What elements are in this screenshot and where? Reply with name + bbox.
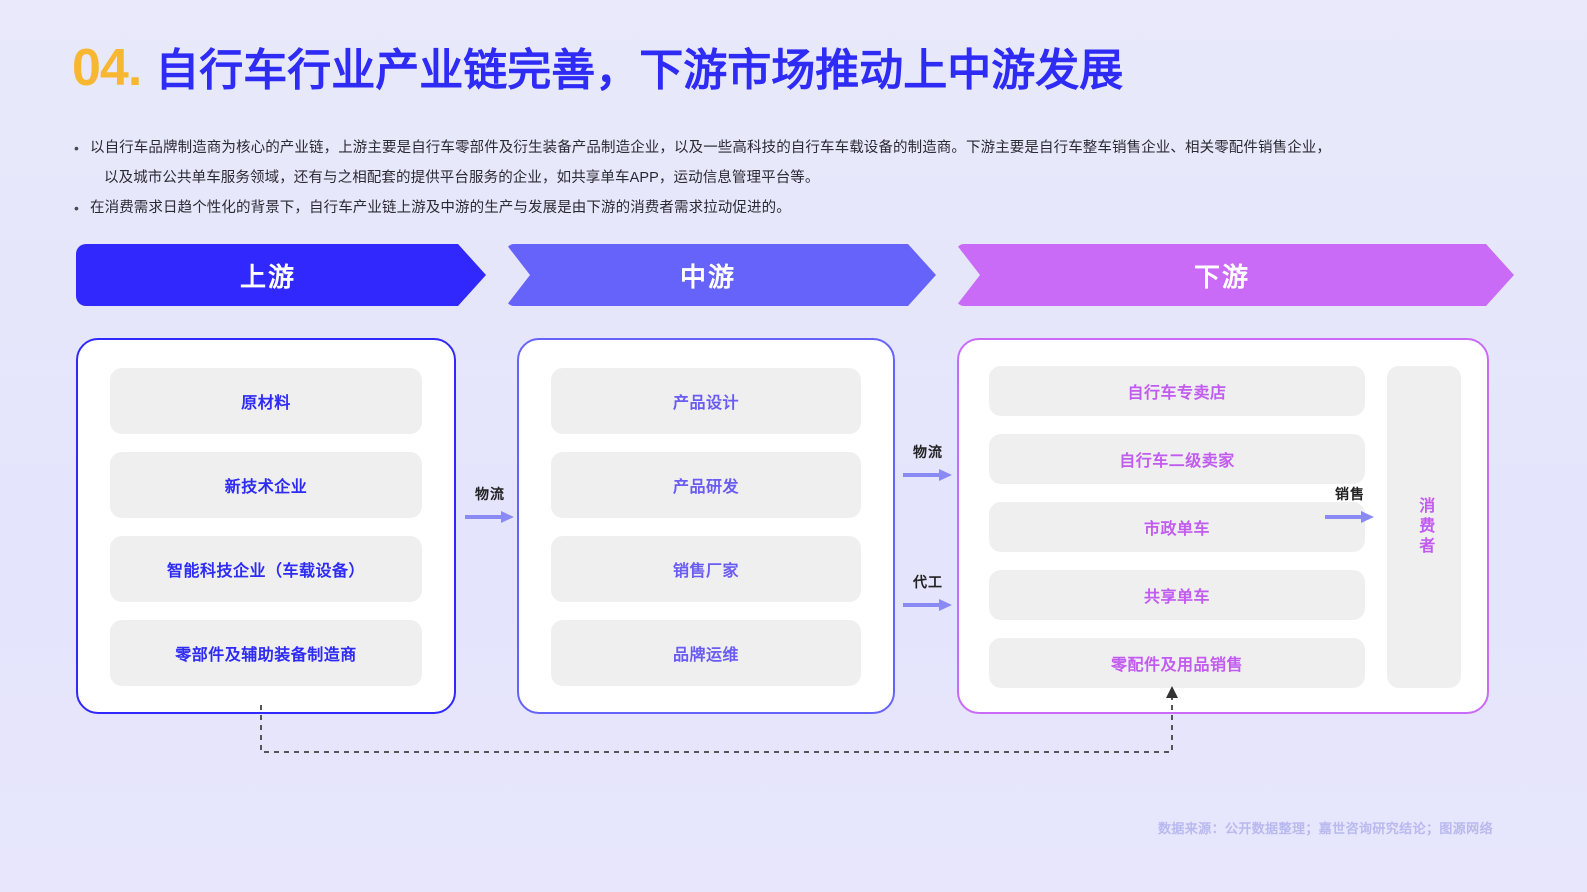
- arrow-right-icon: [1325, 510, 1375, 524]
- chip-item[interactable]: 销售厂家: [551, 536, 861, 602]
- chip-item[interactable]: 零配件及用品销售: [989, 638, 1365, 688]
- stage-panel-downstream: 自行车专卖店 自行车二级卖家 市政单车 共享单车 零配件及用品销售 消费者: [957, 338, 1489, 714]
- midstream-chip-list: 产品设计 产品研发 销售厂家 品牌运维: [551, 368, 861, 686]
- chip-item[interactable]: 原材料: [110, 368, 422, 434]
- upstream-chip-list: 原材料 新技术企业 智能科技企业（车载设备） 零部件及辅助装备制造商: [110, 368, 422, 686]
- stage-banner-downstream: 下游: [956, 244, 1514, 306]
- section-title: 自行车行业产业链完善，下游市场推动上中游发展: [155, 49, 1123, 93]
- bullet-marker: •: [74, 193, 90, 223]
- chip-item[interactable]: 产品设计: [551, 368, 861, 434]
- connector-upstream-to-midstream: 物流: [462, 484, 518, 524]
- connector-midstream-to-downstream-logistics: 物流: [900, 442, 956, 482]
- consumer-label: 消费者: [1415, 497, 1433, 557]
- stage-banner-row: 上游 中游 下游: [76, 244, 1514, 306]
- chip-item[interactable]: 智能科技企业（车载设备）: [110, 536, 422, 602]
- stage-panel-upstream: 原材料 新技术企业 智能科技企业（车载设备） 零部件及辅助装备制造商: [76, 338, 456, 714]
- chip-item[interactable]: 市政单车: [989, 502, 1365, 552]
- chip-item[interactable]: 新技术企业: [110, 452, 422, 518]
- arrow-right-icon: [903, 598, 953, 612]
- connector-midstream-to-downstream-oem: 代工: [900, 572, 956, 612]
- bullet-item: • 以自行车品牌制造商为核心的产业链，上游主要是自行车零部件及衍生装备产品制造企…: [74, 133, 1514, 193]
- page-title: 04. 自行车行业产业链完善，下游市场推动上中游发展: [72, 42, 1123, 94]
- bullet-line: 以及城市公共单车服务领域，还有与之相配套的提供平台服务的企业，如共享单车APP，…: [90, 163, 1514, 193]
- downstream-chip-list: 自行车专卖店 自行车二级卖家 市政单车 共享单车 零配件及用品销售: [989, 366, 1365, 688]
- bullet-list: • 以自行车品牌制造商为核心的产业链，上游主要是自行车零部件及衍生装备产品制造企…: [74, 133, 1514, 223]
- chip-item[interactable]: 产品研发: [551, 452, 861, 518]
- stage-banner-upstream: 上游: [76, 244, 486, 306]
- connector-label: 代工: [913, 572, 943, 592]
- consumer-panel[interactable]: 消费者: [1387, 366, 1461, 688]
- stage-banner-midstream: 中游: [506, 244, 936, 306]
- stage-panel-midstream: 产品设计 产品研发 销售厂家 品牌运维: [517, 338, 895, 714]
- bullet-line: 在消费需求日趋个性化的背景下，自行车产业链上游及中游的生产与发展是由下游的消费者…: [90, 193, 1514, 223]
- chip-item[interactable]: 自行车专卖店: [989, 366, 1365, 416]
- bullet-marker: •: [74, 133, 90, 163]
- chip-item[interactable]: 共享单车: [989, 570, 1365, 620]
- connector-label: 物流: [475, 484, 505, 504]
- arrow-right-icon: [465, 510, 515, 524]
- chip-item[interactable]: 品牌运维: [551, 620, 861, 686]
- source-note: 数据来源：公开数据整理；嘉世咨询研究结论；图源网络: [1158, 818, 1493, 837]
- chip-item[interactable]: 自行车二级卖家: [989, 434, 1365, 484]
- section-number: 04.: [72, 42, 141, 94]
- bullet-line: 以自行车品牌制造商为核心的产业链，上游主要是自行车零部件及衍生装备产品制造企业，…: [90, 133, 1514, 163]
- chip-item[interactable]: 零部件及辅助装备制造商: [110, 620, 422, 686]
- connector-label: 物流: [913, 442, 943, 462]
- bullet-item: • 在消费需求日趋个性化的背景下，自行车产业链上游及中游的生产与发展是由下游的消…: [74, 193, 1514, 223]
- connector-downstream-to-consumer: 销售: [1320, 484, 1380, 524]
- connector-label: 销售: [1335, 484, 1365, 504]
- arrow-right-icon: [903, 468, 953, 482]
